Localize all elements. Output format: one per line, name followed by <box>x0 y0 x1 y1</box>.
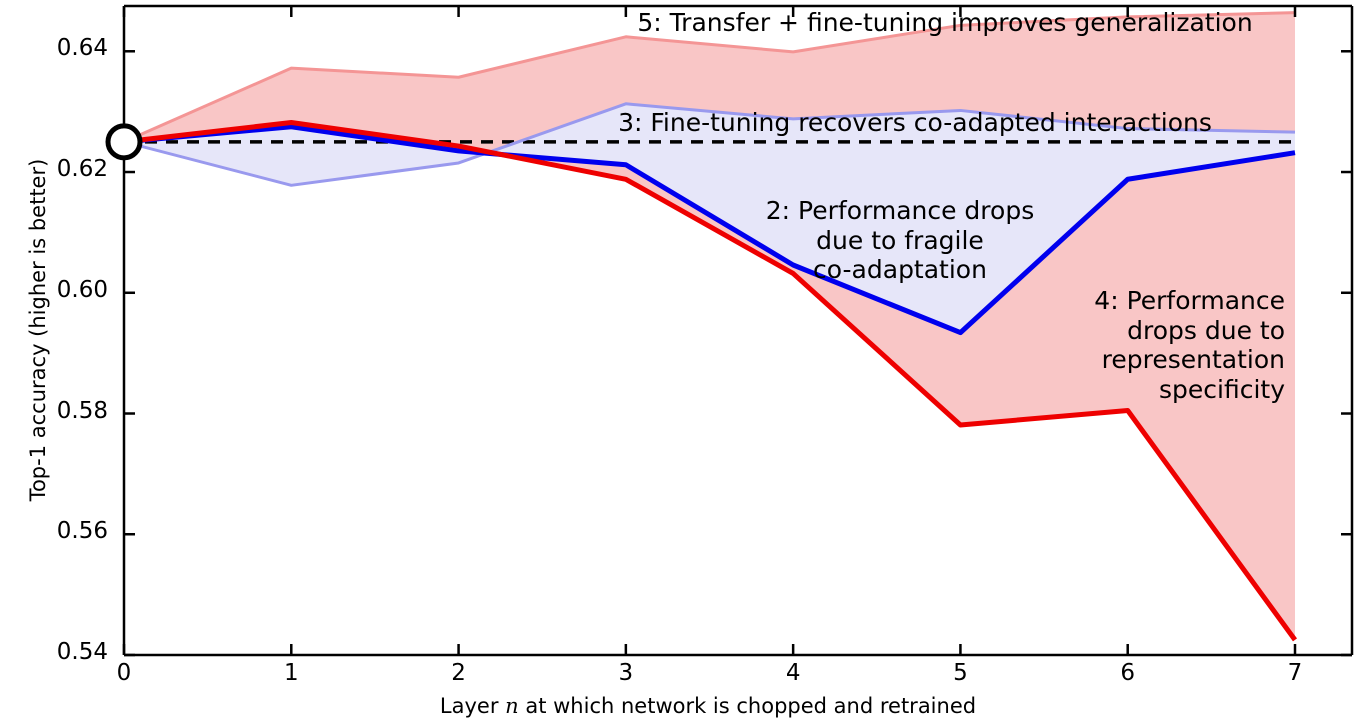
x-tick-label: 7 <box>1275 660 1315 686</box>
y-tick-label: 0.54 <box>16 639 108 665</box>
chart-figure: 0.540.560.580.600.620.64 01234567 Top-1 … <box>0 0 1361 723</box>
annotation-2-performance-drops-fragile: 2: Performance drops due to fragile co-a… <box>735 196 1065 285</box>
y-tick-label: 0.64 <box>16 35 108 61</box>
x-axis-title-italic-n: n <box>505 694 519 718</box>
x-axis-title-pre: Layer <box>440 694 505 718</box>
x-axis-title: Layer n at which network is chopped and … <box>118 694 1298 718</box>
annotation-3-finetuning-recovers: 3: Fine-tuning recovers co-adapted inter… <box>545 108 1285 138</box>
annotation-4-performance-drops-specificity: 4: Performance drops due to representati… <box>1000 286 1285 404</box>
x-tick-label: 3 <box>606 660 646 686</box>
x-tick-label: 0 <box>104 660 144 686</box>
origin-circle-marker <box>108 126 140 158</box>
y-axis-title: Top-1 accuracy (higher is better) <box>26 60 50 600</box>
x-tick-label: 2 <box>439 660 479 686</box>
annotation-5-transfer-finetuning: 5: Transfer + fine-tuning improves gener… <box>545 8 1345 38</box>
x-tick-label: 6 <box>1108 660 1148 686</box>
x-axis-title-post: at which network is chopped and retraine… <box>519 694 976 718</box>
x-tick-label: 5 <box>940 660 980 686</box>
x-tick-label: 1 <box>271 660 311 686</box>
x-tick-label: 4 <box>773 660 813 686</box>
